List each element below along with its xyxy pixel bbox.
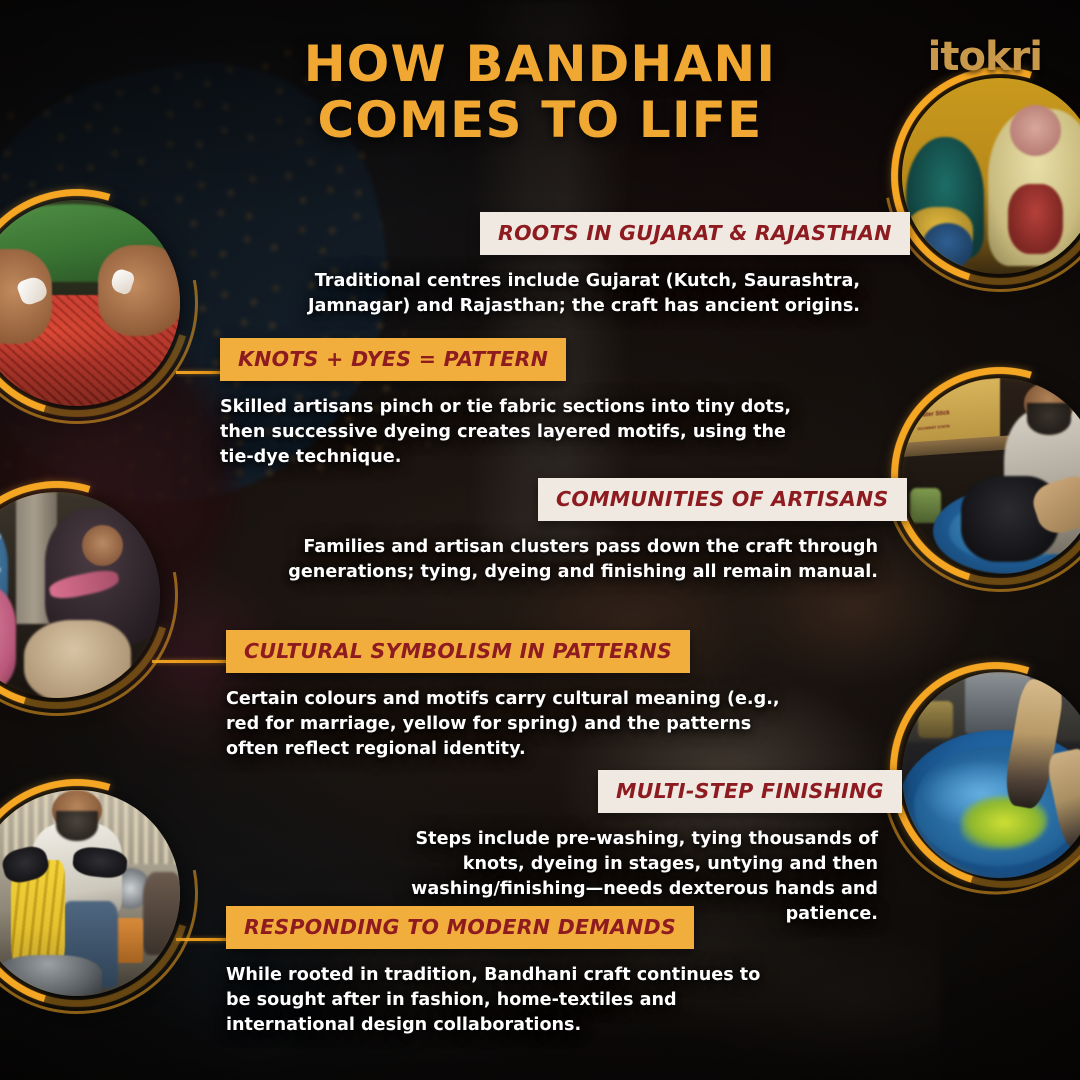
connector-line-4	[152, 660, 228, 663]
section-communities-of-artisans: COMMUNITIES OF ARTISANS Families and art…	[538, 478, 878, 585]
connector-line-2	[176, 371, 222, 374]
photo-hands-tying-red	[0, 200, 180, 406]
page-title: HOW BANDHANI COMES TO LIFE	[0, 36, 1080, 148]
brand-logo[interactable]: itokri	[928, 34, 1042, 80]
section-body-text: Traditional centres include Gujarat (Kut…	[282, 269, 860, 319]
title-line-1: HOW BANDHANI	[160, 36, 920, 92]
section-responding-to-modern-demands: RESPONDING TO MODERN DEMANDS While roote…	[226, 906, 646, 1038]
section-body-text: While rooted in tradition, Bandhani craf…	[226, 963, 786, 1038]
photo-dye-vat-indigo	[902, 672, 1080, 878]
section-body-text: Skilled artisans pinch or tie fabric sec…	[220, 395, 800, 470]
section-heading-badge: MULTI-STEP FINISHING	[598, 770, 902, 813]
section-multi-step-finishing: MULTI-STEP FINISHING Steps include pre-w…	[598, 770, 878, 927]
photo-dyer-blue-tub: J.y Water Stick GUJARAT STATE	[902, 378, 1080, 574]
title-line-2: COMES TO LIFE	[160, 92, 920, 148]
section-roots-in-gujarat-rajasthan: ROOTS IN GUJARAT & RAJASTHAN Traditional…	[480, 212, 880, 319]
photo-women-artisans	[0, 492, 160, 698]
section-cultural-symbolism-in-patterns: CULTURAL SYMBOLISM IN PATTERNS Certain c…	[226, 630, 646, 762]
section-heading-badge: RESPONDING TO MODERN DEMANDS	[226, 906, 694, 949]
section-heading-badge: CULTURAL SYMBOLISM IN PATTERNS	[226, 630, 690, 673]
section-heading-badge: ROOTS IN GUJARAT & RAJASTHAN	[480, 212, 910, 255]
infographic-poster: itokri HOW BANDHANI COMES TO LIFE	[0, 0, 1080, 1080]
section-knots-dyes-pattern: KNOTS + DYES = PATTERN Skilled artisans …	[220, 338, 640, 470]
section-heading-badge: KNOTS + DYES = PATTERN	[220, 338, 566, 381]
section-heading-badge: COMMUNITIES OF ARTISANS	[538, 478, 907, 521]
section-body-text: Families and artisan clusters pass down …	[270, 535, 878, 585]
section-body-text: Certain colours and motifs carry cultura…	[226, 687, 786, 762]
photo-lifting-yellow-cloth	[0, 790, 180, 996]
